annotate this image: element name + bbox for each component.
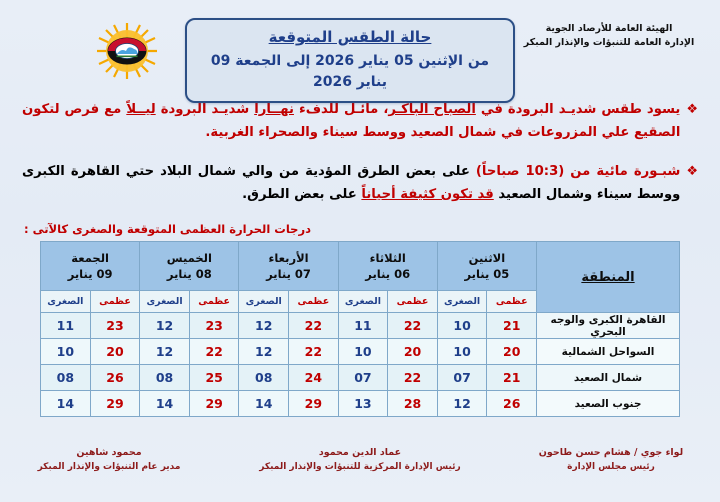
temp-max: 21: [487, 313, 537, 339]
subheader-max-day-3: عظمى: [189, 291, 239, 313]
bullet-0-segment-0: يسود طقس شديـد البرودة في: [476, 102, 680, 117]
bullet-0-segment-3: نهــاراً: [254, 102, 294, 117]
day-name: الثلاثاء: [339, 250, 437, 267]
forecast-table-body: القاهرة الكبرى والوجه البحري 21 10 22 11…: [41, 313, 680, 417]
subheader-min-day-3: الصغرى: [140, 291, 190, 313]
forecast-summary-bullets: ❖ يسود طقس شديـد البرودة في الصباح الباك…: [22, 98, 698, 206]
bullet-1-segment-3: على بعض الطرق.: [242, 187, 361, 202]
region-label: السواحل الشمالية: [537, 339, 680, 365]
signature-block-general-manager: محمود شاهين مدير عام التنبؤات والإنذار ا…: [34, 446, 184, 474]
temp-max: 23: [189, 313, 239, 339]
region-label: جنوب الصعيد: [537, 391, 680, 417]
column-header-day-4: الجمعة 09 يناير: [41, 242, 140, 291]
title-box: حالة الطقس المتوقعة من الإثنين 05 يناير …: [185, 18, 515, 103]
logo-emblem: [108, 38, 146, 64]
temperature-caption-text: درجات الحرارة العظمى المتوقعة والصغرى كا…: [24, 222, 311, 236]
temp-max: 22: [289, 313, 339, 339]
page-title: حالة الطقس المتوقعة: [197, 26, 503, 49]
forecast-table-wrap: المنطقة الاثنين 05 يناير الثلاثاء 06 ينا…: [40, 241, 680, 417]
temp-max: 22: [388, 365, 438, 391]
signature-role: رئيس مجلس الإدارة: [536, 461, 686, 475]
signature-block-chairman: لواء جوي / هشام حسن طاحون رئيس مجلس الإد…: [536, 446, 686, 474]
temp-max: 23: [90, 313, 140, 339]
bullet-marker-icon: ❖: [686, 98, 698, 122]
temp-max: 22: [388, 313, 438, 339]
day-date: 06 يناير: [339, 266, 437, 283]
day-name: الأربعاء: [239, 250, 337, 267]
department-name: الإدارة العامة للتنبؤات والإنذار المبكر: [514, 36, 704, 50]
organization-block: الهيئة العامة للأرصاد الجوية الإدارة الع…: [514, 22, 704, 50]
bullet-0-segment-2: ، مائـل للدفء: [294, 102, 388, 117]
temp-max: 20: [388, 339, 438, 365]
temp-min: 12: [140, 313, 190, 339]
ema-logo: [94, 22, 160, 80]
column-header-day-1: الثلاثاء 06 يناير: [338, 242, 437, 291]
bullet-1-segment-2: قد تكون كثيفة أحياناً: [361, 187, 493, 202]
signature-role: مدير عام التنبؤات والإنذار المبكر: [34, 461, 184, 475]
subheader-min-day-1: الصغرى: [338, 291, 388, 313]
temp-min: 12: [437, 391, 487, 417]
bullet-text-2: شبـورة مائية من (10:3 صباحاً) على بعض ال…: [22, 160, 680, 206]
temp-min: 14: [140, 391, 190, 417]
weather-bulletin-page: الهيئة العامة للأرصاد الجوية الإدارة الع…: [0, 0, 720, 502]
day-date: 05 يناير: [438, 266, 536, 283]
temp-max: 20: [487, 339, 537, 365]
day-date: 09 يناير: [41, 266, 139, 283]
signature-name: محمود شاهين: [34, 446, 184, 460]
temp-min: 08: [239, 365, 289, 391]
temp-max: 21: [487, 365, 537, 391]
bullet-text-1: يسود طقس شديـد البرودة في الصباح الباكـر…: [22, 98, 680, 144]
table-row: شمال الصعيد 21 07 22 07 24 08 25 08 26 0…: [41, 365, 680, 391]
day-name: الخميس: [140, 250, 238, 267]
temp-min: 10: [41, 339, 91, 365]
table-header-row-days: المنطقة الاثنين 05 يناير الثلاثاء 06 ينا…: [41, 242, 680, 291]
date-range-subtitle: من الإثنين 05 يناير 2026 إلى الجمعة 09 ي…: [197, 51, 503, 93]
temp-max: 29: [289, 391, 339, 417]
organization-name: الهيئة العامة للأرصاد الجوية: [514, 22, 704, 36]
forecast-table-head: المنطقة الاثنين 05 يناير الثلاثاء 06 ينا…: [41, 242, 680, 313]
temp-min: 10: [437, 313, 487, 339]
temp-min: 11: [41, 313, 91, 339]
temperature-caption: درجات الحرارة العظمى المتوقعة والصغرى كا…: [24, 222, 696, 236]
subheader-max-day-2: عظمى: [289, 291, 339, 313]
bullet-0-segment-4: شديـد البرودة: [156, 102, 255, 117]
bullet-item: ❖ يسود طقس شديـد البرودة في الصباح الباك…: [22, 98, 698, 144]
temp-max: 26: [487, 391, 537, 417]
subheader-min-day-2: الصغرى: [239, 291, 289, 313]
temp-min: 12: [140, 339, 190, 365]
subheader-min-day-0: الصغرى: [437, 291, 487, 313]
subheader-min-day-4: الصغرى: [41, 291, 91, 313]
temp-min: 14: [41, 391, 91, 417]
bullet-1-segment-0: شبـورة مائية من (10:3 صباحاً): [476, 164, 680, 179]
temp-max: 26: [90, 365, 140, 391]
subheader-max-day-0: عظمى: [487, 291, 537, 313]
bullet-marker-icon: ❖: [686, 160, 698, 184]
temp-min: 07: [437, 365, 487, 391]
temp-min: 08: [41, 365, 91, 391]
temp-max: 25: [189, 365, 239, 391]
temp-min: 13: [338, 391, 388, 417]
temp-min: 10: [338, 339, 388, 365]
temp-min: 08: [140, 365, 190, 391]
subheader-max-day-4: عظمى: [90, 291, 140, 313]
bullet-item: ❖ شبـورة مائية من (10:3 صباحاً) على بعض …: [22, 160, 698, 206]
column-header-day-0: الاثنين 05 يناير: [437, 242, 536, 291]
temp-max: 28: [388, 391, 438, 417]
signature-name: لواء جوي / هشام حسن طاحون: [536, 446, 686, 460]
temp-max: 22: [189, 339, 239, 365]
subheader-max-day-1: عظمى: [388, 291, 438, 313]
bullet-0-segment-1: الصباح الباكـر: [388, 102, 476, 117]
temp-min: 12: [239, 339, 289, 365]
temp-min: 10: [437, 339, 487, 365]
temp-max: 29: [90, 391, 140, 417]
region-label: القاهرة الكبرى والوجه البحري: [537, 313, 680, 339]
signature-name: عماد الدين محمود: [259, 446, 460, 460]
forecast-table: المنطقة الاثنين 05 يناير الثلاثاء 06 ينا…: [40, 241, 680, 417]
day-date: 07 يناير: [239, 266, 337, 283]
table-row: القاهرة الكبرى والوجه البحري 21 10 22 11…: [41, 313, 680, 339]
temp-max: 29: [189, 391, 239, 417]
day-name: الاثنين: [438, 250, 536, 267]
column-header-day-2: الأربعاء 07 يناير: [239, 242, 338, 291]
temp-min: 11: [338, 313, 388, 339]
day-name: الجمعة: [41, 250, 139, 267]
page-header: الهيئة العامة للأرصاد الجوية الإدارة الع…: [0, 0, 720, 92]
column-header-region: المنطقة: [537, 242, 680, 313]
temp-max: 24: [289, 365, 339, 391]
day-date: 08 يناير: [140, 266, 238, 283]
table-row: جنوب الصعيد 26 12 28 13 29 14 29 14 29 1…: [41, 391, 680, 417]
signature-role: رئيس الإدارة المركزية للتنبؤات والإنذار …: [259, 461, 460, 475]
region-label: شمال الصعيد: [537, 365, 680, 391]
signatures-footer: لواء جوي / هشام حسن طاحون رئيس مجلس الإد…: [0, 446, 720, 474]
signature-block-central-head: عماد الدين محمود رئيس الإدارة المركزية ل…: [259, 446, 460, 474]
temp-max: 22: [289, 339, 339, 365]
temp-min: 07: [338, 365, 388, 391]
temp-max: 20: [90, 339, 140, 365]
temp-min: 12: [239, 313, 289, 339]
bullet-0-segment-5: ليــلاً: [126, 102, 155, 117]
column-header-day-3: الخميس 08 يناير: [140, 242, 239, 291]
table-row: السواحل الشمالية 20 10 20 10 22 12 22 12…: [41, 339, 680, 365]
temp-min: 14: [239, 391, 289, 417]
